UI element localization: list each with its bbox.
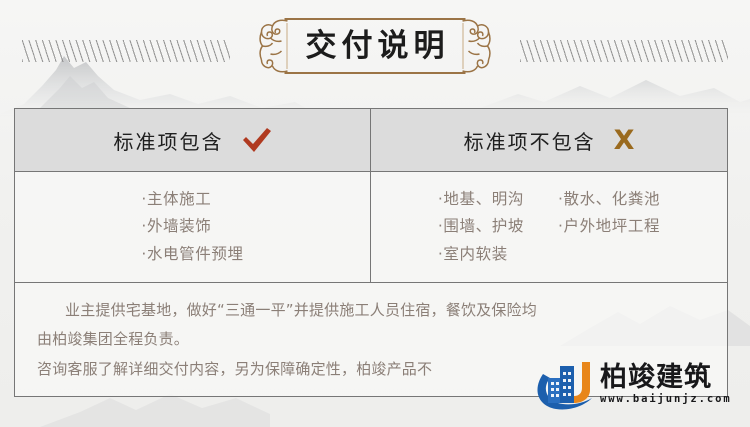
table-items-row: ·主体施工 ·外墙装饰 ·水电管件预埋 ·地基、明沟 ·围墙、护坡 ·室内软装 … [15, 172, 727, 283]
list-item: ·散水、化粪池 [558, 186, 660, 214]
table-header-row: 标准项包含 标准项不包含 X [15, 109, 727, 172]
included-header-label: 标准项包含 [114, 126, 224, 155]
header-cell-included: 标准项包含 [15, 109, 371, 171]
brand-name: 柏竣建筑 [600, 364, 732, 392]
excluded-list-column-1: ·地基、明沟 ·围墙、护坡 ·室内软装 [438, 186, 524, 269]
building-logo-icon [534, 356, 596, 414]
title-banner: 交付说明 [259, 10, 492, 82]
list-item: ·户外地坪工程 [558, 213, 660, 241]
brand-url: www.baijunjz.com [600, 393, 732, 407]
cell-excluded-items: ·地基、明沟 ·围墙、护坡 ·室内软装 ·散水、化粪池 ·户外地坪工程 [371, 172, 727, 282]
check-icon [242, 127, 272, 153]
note-line: 业主提供宅基地，做好“三通一平”并提供施工人员住宿，餐饮及保险均 [37, 296, 705, 325]
excluded-list-column-2: ·散水、化粪池 ·户外地坪工程 [558, 186, 660, 269]
page-title: 交付说明 [301, 31, 450, 62]
x-mark-icon: X [614, 127, 635, 154]
excluded-list: ·地基、明沟 ·围墙、护坡 ·室内软装 ·散水、化粪池 ·户外地坪工程 [438, 186, 660, 269]
list-item: ·地基、明沟 [438, 186, 524, 214]
note-line: 由柏竣集团全程负责。 [37, 325, 705, 354]
list-item: ·外墙装饰 [141, 213, 243, 241]
list-item: ·围墙、护坡 [438, 213, 524, 241]
brand-watermark: 柏竣建筑 www.baijunjz.com [534, 352, 746, 418]
cloud-scroll-ornament-right [462, 14, 492, 78]
list-item: ·主体施工 [141, 186, 243, 214]
hatch-decoration-right [520, 40, 728, 62]
header-cell-excluded: 标准项不包含 X [371, 109, 727, 171]
title-frame: 交付说明 [285, 18, 466, 74]
hatch-decoration-left [22, 40, 230, 62]
page-header: 交付说明 [0, 0, 750, 100]
cell-included-items: ·主体施工 ·外墙装饰 ·水电管件预埋 [15, 172, 371, 282]
delivery-instructions-panel: 交付说明 标准项包含 [0, 0, 750, 427]
list-item: ·水电管件预埋 [141, 241, 243, 269]
list-item: ·室内软装 [438, 241, 524, 269]
included-list: ·主体施工 ·外墙装饰 ·水电管件预埋 [141, 186, 243, 269]
brand-text-block: 柏竣建筑 www.baijunjz.com [600, 364, 732, 407]
excluded-header-label: 标准项不包含 [464, 126, 596, 155]
